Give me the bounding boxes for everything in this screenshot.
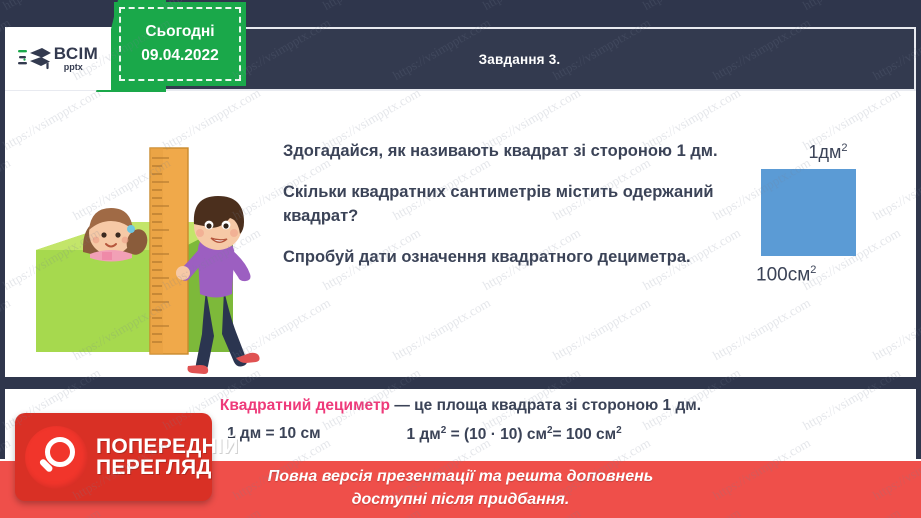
preview-badge-line2: ПЕРЕГЛЯД — [96, 457, 239, 478]
magnifier-icon — [25, 426, 88, 489]
slide-canvas: Завдання 3. ВСІМ pptx Сь — [0, 0, 921, 518]
brand-logo[interactable]: ВСІМ pptx — [5, 27, 111, 90]
square-decimeter-figure: 1дм2 100см2 — [748, 142, 908, 286]
definition-rest: це площа квадрата зі стороною 1 дм. — [410, 397, 701, 414]
logo-wordmark: ВСІМ — [54, 45, 98, 62]
preview-badge[interactable]: ПОПЕРЕДНІЙ ПЕРЕГЛЯД — [15, 413, 212, 501]
definition-dash: — — [394, 397, 410, 414]
formula-area: 1 дм2 = (10 · 10) см2= 100 см2 — [407, 425, 622, 444]
task-paragraph: Здогадайся, як називають квадрат зі стор… — [283, 140, 723, 163]
preview-badge-line1: ПОПЕРЕДНІЙ — [96, 436, 239, 457]
task-paragraph: Скільки квадратних сантиметрів містить о… — [283, 181, 723, 228]
figure-top-label: 1дм2 — [748, 142, 908, 163]
figure-bottom-label: 100см2 — [748, 264, 908, 286]
formula-linear: 1 дм = 10 см — [227, 425, 321, 444]
section-divider — [0, 377, 921, 389]
definition-term: Квадратний дециметр — [220, 397, 390, 414]
graduation-cap-icon — [18, 45, 52, 73]
task-paragraph: Спробуй дати означення квадратного децим… — [283, 246, 723, 269]
logo-subtext: pptx — [64, 63, 83, 72]
date-badge: Сьогодні 09.04.2022 — [114, 2, 246, 86]
blue-square-shape — [761, 169, 856, 256]
date-badge-label: Сьогодні — [145, 20, 214, 44]
date-badge-value: 09.04.2022 — [141, 44, 219, 68]
children-measuring-cube-with-ruler-illustration — [28, 130, 278, 390]
task-text-block: Здогадайся, як називають квадрат зі стор… — [283, 140, 723, 270]
